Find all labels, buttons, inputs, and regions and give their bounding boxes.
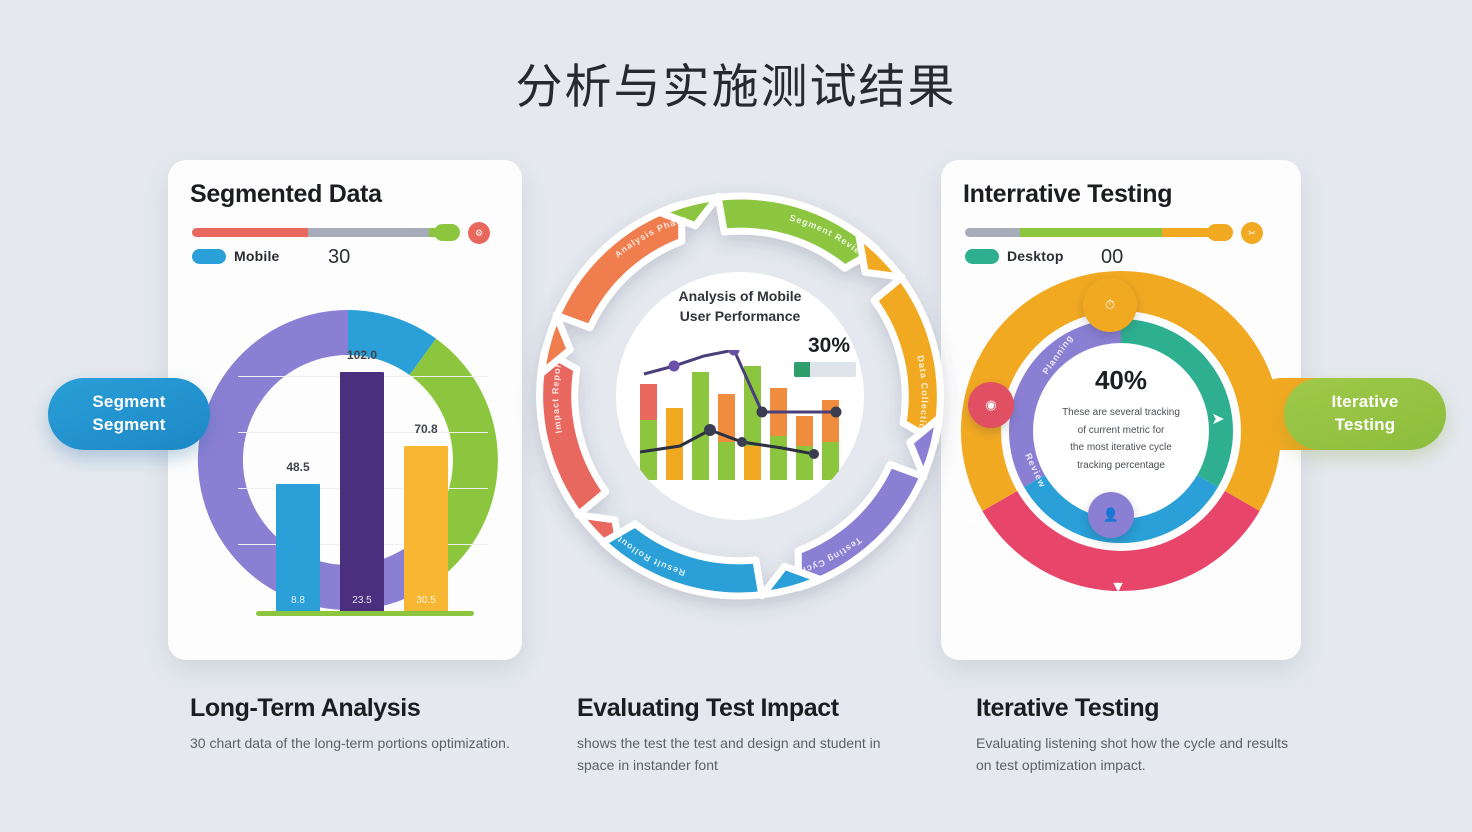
caption-2-body: shows the test the test and design and s… <box>577 733 907 776</box>
caption-2-heading: Evaluating Test Impact <box>577 694 977 723</box>
left-progress-bar[interactable] <box>192 228 444 237</box>
segment-badge[interactable]: Segment Segment <box>48 378 210 450</box>
drop-icon: ▼ <box>1105 575 1131 601</box>
center-inner-title: Analysis of Mobile User Performance <box>632 286 848 327</box>
gear-icon: ❄ <box>962 508 988 534</box>
right-progress-bar[interactable] <box>965 228 1217 237</box>
core-desc-line2: of current metric for <box>1047 422 1195 440</box>
bar-mobile <box>276 484 320 612</box>
bar-label-mobile: 8.8 <box>276 595 320 606</box>
bar-tablet <box>340 372 384 612</box>
left-legend-swatch <box>192 249 226 264</box>
left-progress-knob[interactable] <box>434 224 460 241</box>
caption-1-heading: Long-Term Analysis <box>190 694 590 723</box>
iterative-badge-line2: Testing <box>1335 414 1396 437</box>
center-inner-title-line1: Analysis of Mobile <box>632 286 848 306</box>
tools-icon[interactable]: ✂ <box>1241 222 1263 244</box>
core-percent: 40% <box>1095 365 1147 396</box>
caption-1-body: 30 chart data of the long-term portions … <box>190 733 520 755</box>
iterative-testing-core: 40% These are several tracking of curren… <box>1033 343 1209 519</box>
caption-3-body: Evaluating listening shot how the cycle … <box>976 733 1306 776</box>
bar-label-tablet: 23.5 <box>340 595 384 606</box>
clock-icon[interactable]: ⏱ <box>1083 278 1137 332</box>
bar-value-desktop: 70.8 <box>391 422 461 436</box>
right-legend: Desktop <box>965 248 1064 264</box>
card-segmented-data: Segmented Data ⚙ Mobile 30 <box>168 160 522 660</box>
left-legend-value: 30 <box>328 246 350 269</box>
core-desc-line1: These are several tracking <box>1047 404 1195 422</box>
caption-3-heading: Iterative Testing <box>976 694 1376 723</box>
plane-icon: ➤ <box>1205 406 1231 432</box>
core-description: These are several tracking of current me… <box>1047 404 1195 474</box>
caption-iterative-testing: Iterative Testing Evaluating listening s… <box>976 694 1376 776</box>
bar-label-desktop: 30.5 <box>404 595 448 606</box>
segmented-data-bar-chart: 48.5 102.0 70.8 8.8 23.5 30.5 <box>238 340 488 630</box>
core-desc-line3: the most iterative cycle <box>1047 439 1195 457</box>
bar-desktop <box>404 446 448 612</box>
target-icon[interactable]: ◉ <box>968 382 1014 428</box>
bar-value-mobile: 48.5 <box>263 460 333 474</box>
iterative-badge-line1: Iterative <box>1331 391 1398 414</box>
segment-badge-line1: Segment <box>92 391 165 414</box>
page-title: 分析与实施测试结果 <box>0 48 1472 117</box>
user-icon[interactable]: 👤 <box>1088 492 1134 538</box>
center-inner-panel: Analysis of Mobile User Performance 30% <box>616 272 864 520</box>
caption-long-term-analysis: Long-Term Analysis 30 chart data of the … <box>190 694 590 755</box>
iterative-testing-badge[interactable]: Iterative Testing <box>1284 378 1446 450</box>
right-progress-knob[interactable] <box>1207 224 1233 241</box>
card-left-title: Segmented Data <box>190 180 382 209</box>
left-legend: Mobile <box>192 248 280 264</box>
settings-icon[interactable]: ⚙ <box>468 222 490 244</box>
card-right-title: Interrative Testing <box>963 180 1172 209</box>
mobile-performance-combo-chart: 2.0 1.5 1.0 0.5 <box>632 350 854 510</box>
bar-value-tablet: 102.0 <box>327 348 397 362</box>
segment-badge-line2: Segment <box>92 414 165 437</box>
infographic-canvas: 分析与实施测试结果 Segmented Data ⚙ Mobile 30 <box>0 0 1472 832</box>
right-legend-label: Desktop <box>1007 248 1064 264</box>
caption-evaluating-test-impact: Evaluating Test Impact shows the test th… <box>577 694 977 776</box>
center-inner-title-line2: User Performance <box>632 306 848 326</box>
chart-baseline <box>256 611 474 616</box>
left-legend-label: Mobile <box>234 248 280 264</box>
core-desc-line4: tracking percentage <box>1047 457 1195 475</box>
